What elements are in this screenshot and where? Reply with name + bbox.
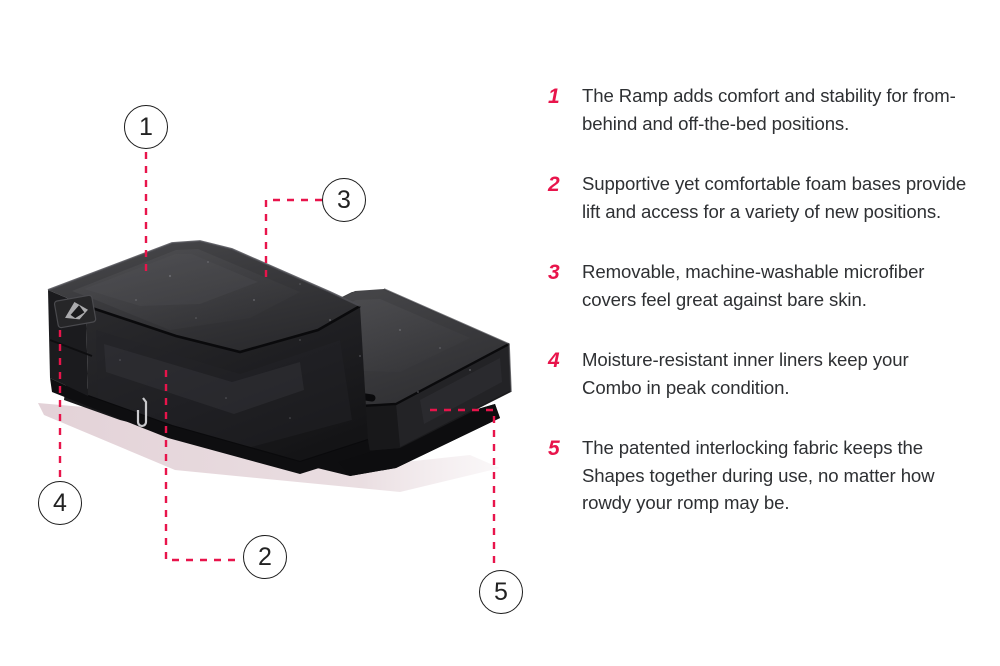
feature-item-5: 5 The patented interlocking fabric keeps… bbox=[548, 434, 968, 517]
callout-marker-2-label: 2 bbox=[258, 545, 272, 570]
callout-marker-4[interactable]: 4 bbox=[38, 481, 82, 525]
callout-marker-2[interactable]: 2 bbox=[243, 535, 287, 579]
feature-item-3: 3 Removable, machine-washable microfiber… bbox=[548, 258, 968, 313]
callout-marker-1-label: 1 bbox=[139, 115, 153, 140]
feature-number-4: 4 bbox=[548, 346, 582, 374]
feature-number-2: 2 bbox=[548, 170, 582, 198]
product-illustration: 1 2 3 4 5 bbox=[0, 0, 540, 666]
feature-text-5: The patented interlocking fabric keeps t… bbox=[582, 434, 968, 517]
callout-marker-1[interactable]: 1 bbox=[124, 105, 168, 149]
feature-text-2: Supportive yet comfortable foam bases pr… bbox=[582, 170, 968, 225]
callout-marker-5[interactable]: 5 bbox=[479, 570, 523, 614]
feature-item-1: 1 The Ramp adds comfort and stability fo… bbox=[548, 82, 968, 137]
feature-list: 1 The Ramp adds comfort and stability fo… bbox=[548, 82, 968, 517]
feature-text-4: Moisture-resistant inner liners keep you… bbox=[582, 346, 968, 401]
logo-patch-icon bbox=[54, 295, 96, 328]
feature-item-4: 4 Moisture-resistant inner liners keep y… bbox=[548, 346, 968, 401]
feature-text-1: The Ramp adds comfort and stability for … bbox=[582, 82, 968, 137]
leader-line-3 bbox=[266, 200, 322, 277]
product-ramp bbox=[48, 241, 370, 474]
feature-text-3: Removable, machine-washable microfiber c… bbox=[582, 258, 968, 313]
feature-item-2: 2 Supportive yet comfortable foam bases … bbox=[548, 170, 968, 225]
callout-marker-3-label: 3 bbox=[337, 188, 351, 213]
feature-number-5: 5 bbox=[548, 434, 582, 462]
product-feature-infographic: 1 2 3 4 5 1 The Ramp adds comfort and st… bbox=[0, 0, 1000, 666]
callout-marker-5-label: 5 bbox=[494, 580, 508, 605]
feature-number-1: 1 bbox=[548, 82, 582, 110]
feature-number-3: 3 bbox=[548, 258, 582, 286]
callout-marker-3[interactable]: 3 bbox=[322, 178, 366, 222]
callout-marker-4-label: 4 bbox=[53, 491, 67, 516]
